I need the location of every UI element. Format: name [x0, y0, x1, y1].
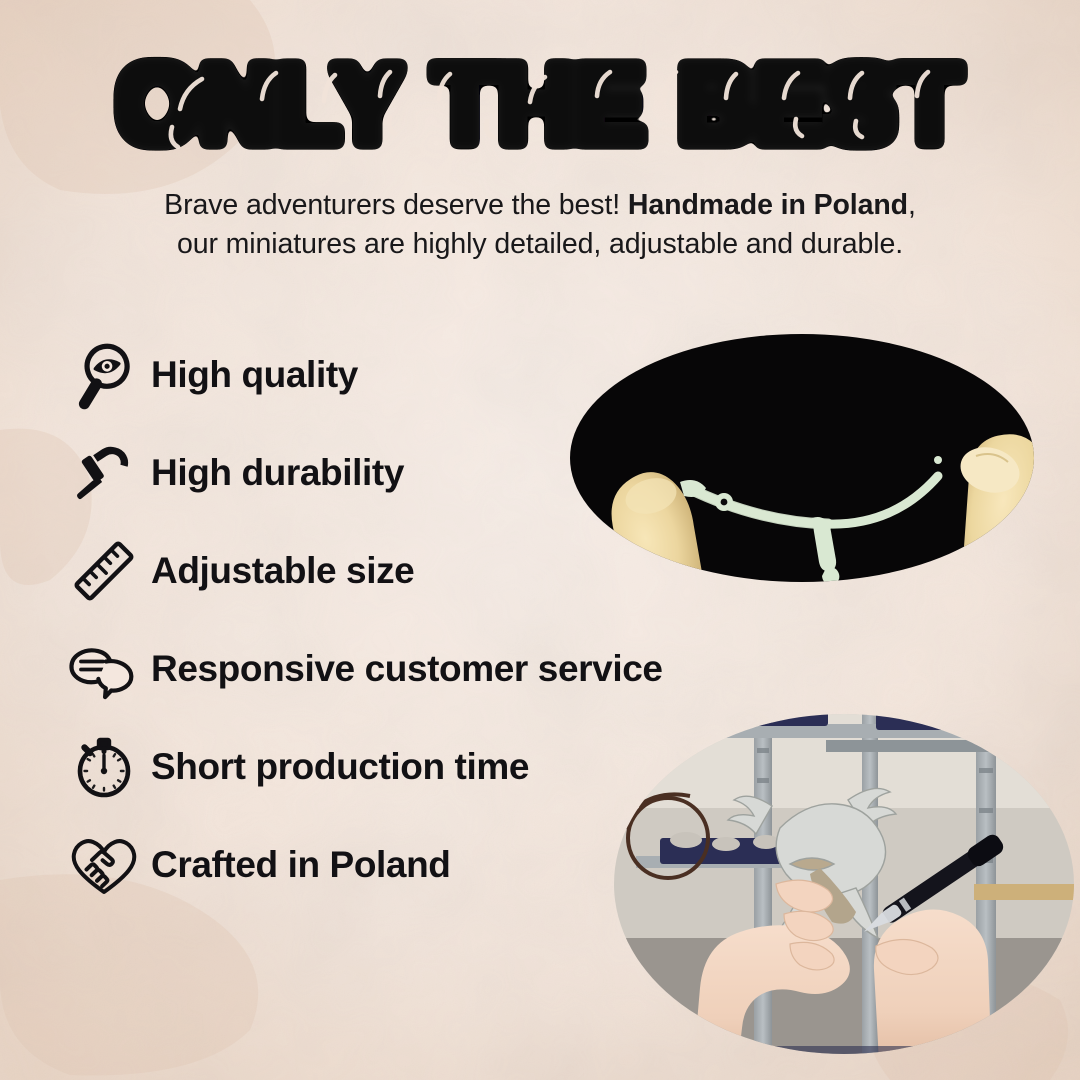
- subtitle: Brave adventurers deserve the best! Hand…: [60, 186, 1020, 264]
- magnifier-eye-icon: [66, 337, 142, 413]
- promo-canvas: ONLY THE BEST: [0, 0, 1080, 1080]
- page-title: ONLY THE BEST: [90, 39, 990, 169]
- subtitle-line-1: Brave adventurers deserve the best! Hand…: [164, 189, 916, 221]
- headline-container: ONLY THE BEST: [0, 34, 1080, 174]
- photo-miniature-in-fingers: [520, 300, 1080, 630]
- subtitle-line-2: our miniatures are highly detailed, adju…: [177, 228, 903, 260]
- feature-label: High durability: [151, 452, 404, 494]
- feature-label: Short production time: [151, 746, 529, 788]
- hammer-icon: [66, 435, 142, 511]
- speech-bubbles-icon: [66, 631, 142, 707]
- subtitle-pre: Brave adventurers deserve the best!: [164, 189, 628, 221]
- feature-label: High quality: [151, 354, 358, 396]
- feature-label: Adjustable size: [151, 550, 414, 592]
- heart-handshake-icon: [66, 827, 142, 903]
- subtitle-post: ,: [908, 189, 916, 221]
- subtitle-highlight: Handmade in Poland: [628, 189, 908, 221]
- svg-text:ONLY THE BEST: ONLY THE BEST: [117, 42, 964, 165]
- stopwatch-icon: [66, 729, 142, 805]
- ruler-icon: [66, 533, 142, 609]
- feature-label: Responsive customer service: [151, 648, 663, 690]
- photo-workshop-hands: [576, 688, 1080, 1080]
- feature-label: Crafted in Poland: [151, 844, 451, 886]
